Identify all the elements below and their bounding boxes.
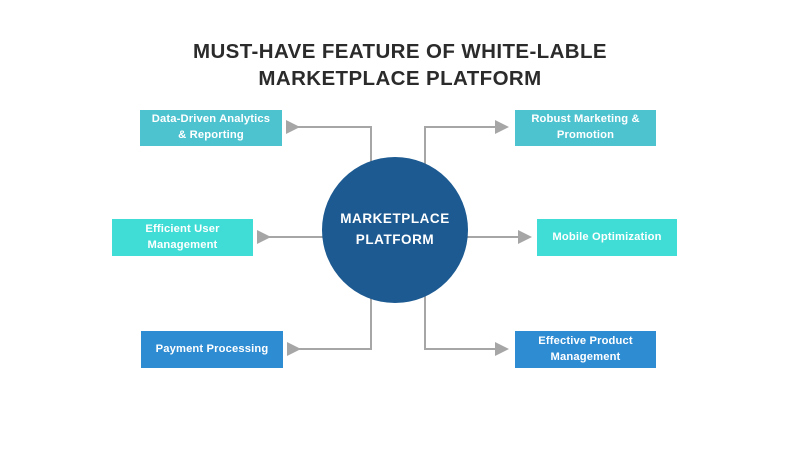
marketplace-platform-hub[interactable]: MARKETPLACE PLATFORM — [322, 157, 468, 303]
feature-label-line-2: Management — [538, 350, 633, 366]
hub-label-line-1: MARKETPLACE — [340, 209, 450, 230]
connector-payment — [289, 291, 371, 349]
feature-label-line-1: Data-Driven Analytics — [152, 112, 270, 128]
feature-label-line-1: Effective Product — [538, 334, 633, 350]
feature-label-line-1: Mobile Optimization — [552, 230, 661, 246]
feature-label-line-1: Efficient User — [145, 222, 219, 238]
connector-analytics — [288, 127, 371, 170]
connector-marketing — [425, 127, 507, 170]
hub-label-line-2: PLATFORM — [340, 230, 450, 251]
feature-node-analytics-label: Data-Driven Analytics & Reporting — [152, 112, 270, 144]
diagram-canvas: MUST-HAVE FEATURE OF WHITE-LABLE MARKETP… — [0, 0, 800, 450]
feature-label-line-2: & Reporting — [152, 128, 270, 144]
feature-node-mobile[interactable]: Mobile Optimization — [537, 219, 677, 256]
feature-node-product[interactable]: Effective Product Management — [515, 331, 656, 368]
hub-label: MARKETPLACE PLATFORM — [340, 209, 450, 251]
feature-node-users-label: Efficient User Management — [145, 222, 219, 254]
feature-node-payment-label: Payment Processing — [156, 342, 269, 358]
feature-node-payment[interactable]: Payment Processing — [141, 331, 283, 368]
feature-node-marketing[interactable]: Robust Marketing & Promotion — [515, 110, 656, 146]
feature-label-line-2: Promotion — [531, 128, 639, 144]
feature-label-line-1: Payment Processing — [156, 342, 269, 358]
connector-product — [425, 291, 507, 349]
feature-label-line-1: Robust Marketing & — [531, 112, 639, 128]
feature-node-analytics[interactable]: Data-Driven Analytics & Reporting — [140, 110, 282, 146]
feature-node-marketing-label: Robust Marketing & Promotion — [531, 112, 639, 144]
feature-node-product-label: Effective Product Management — [538, 334, 633, 366]
feature-node-mobile-label: Mobile Optimization — [552, 230, 661, 246]
feature-label-line-2: Management — [145, 238, 219, 254]
feature-node-users[interactable]: Efficient User Management — [112, 219, 253, 256]
